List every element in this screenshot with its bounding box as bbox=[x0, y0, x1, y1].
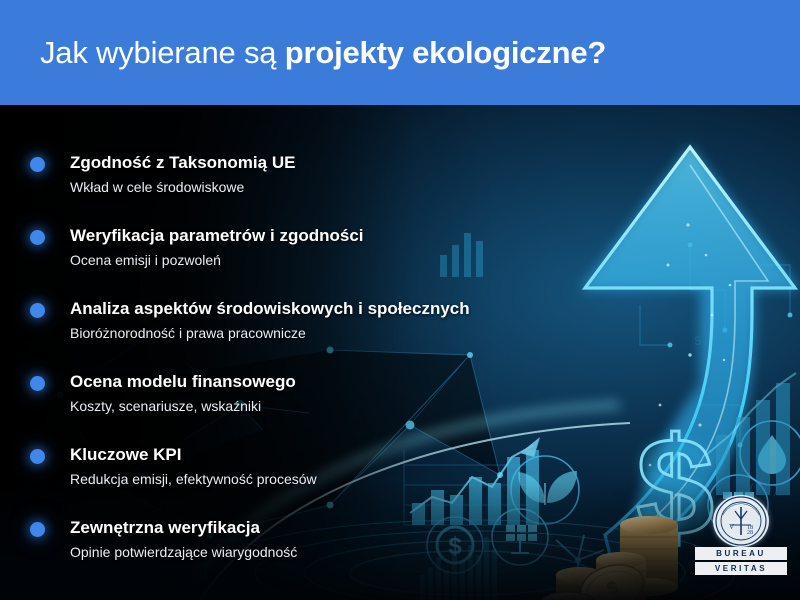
list-item-title: Zgodność z Taksonomią UE bbox=[70, 153, 295, 173]
infographic-slide: Jak wybierane są projekty ekologiczne? bbox=[0, 0, 800, 600]
svg-text:28: 28 bbox=[747, 530, 753, 536]
list-item-subtitle: Opinie potwierdzające wiarygodność bbox=[70, 544, 297, 560]
svg-text:V: V bbox=[729, 523, 734, 531]
list-item[interactable]: Kluczowe KPI Redukcja emisji, efektywnoś… bbox=[30, 445, 317, 487]
logo-text: VERITAS bbox=[715, 562, 767, 575]
list-item-title: Analiza aspektów środowiskowych i społec… bbox=[70, 299, 470, 319]
blue-dot-icon bbox=[30, 303, 45, 318]
blue-dot-icon bbox=[30, 522, 45, 537]
blue-dot-icon bbox=[30, 230, 45, 245]
logo-wordmark-line1: BUREAU bbox=[695, 547, 787, 560]
list-item-title: Weryfikacja parametrów i zgodności bbox=[70, 226, 364, 246]
list-item-title: Kluczowe KPI bbox=[70, 445, 317, 465]
page-title-bold: projekty ekologiczne? bbox=[285, 35, 606, 70]
blue-dot-icon bbox=[30, 449, 45, 464]
page-title: Jak wybierane są projekty ekologiczne? bbox=[40, 35, 606, 71]
list-item-subtitle: Wkład w cele środowiskowe bbox=[70, 179, 295, 195]
logo-text: BUREAU bbox=[716, 547, 766, 560]
bureau-veritas-logo: V 18 28 BUREAU VERITAS bbox=[695, 495, 787, 575]
blue-dot-icon bbox=[30, 157, 45, 172]
list-item[interactable]: Zewnętrzna weryfikacja Opinie potwierdza… bbox=[30, 518, 297, 560]
blue-dot-icon bbox=[30, 376, 45, 391]
list-item[interactable]: Weryfikacja parametrów i zgodności Ocena… bbox=[30, 226, 364, 268]
list-item[interactable]: Analiza aspektów środowiskowych i społec… bbox=[30, 299, 470, 341]
list-item-subtitle: Redukcja emisji, efektywność procesów bbox=[70, 471, 317, 487]
list-item-subtitle: Koszty, scenariusze, wskaźniki bbox=[70, 398, 296, 414]
header-band: Jak wybierane są projekty ekologiczne? bbox=[0, 0, 800, 105]
page-title-regular: Jak wybierane są bbox=[40, 35, 285, 70]
list-item-title: Zewnętrzna weryfikacja bbox=[70, 518, 297, 538]
bureau-veritas-crest-icon: V 18 28 bbox=[713, 495, 769, 547]
bullet-list: Zgodność z Taksonomią UE Wkład w cele śr… bbox=[0, 105, 620, 600]
list-item[interactable]: Ocena modelu finansowego Koszty, scenari… bbox=[30, 372, 296, 414]
list-item-subtitle: Ocena emisji i pozwoleń bbox=[70, 252, 364, 268]
list-item-subtitle: Bioróżnorodność i prawa pracownicze bbox=[70, 325, 470, 341]
logo-wordmark-line2: VERITAS bbox=[695, 562, 787, 575]
list-item[interactable]: Zgodność z Taksonomią UE Wkład w cele śr… bbox=[30, 153, 295, 195]
list-item-title: Ocena modelu finansowego bbox=[70, 372, 296, 392]
